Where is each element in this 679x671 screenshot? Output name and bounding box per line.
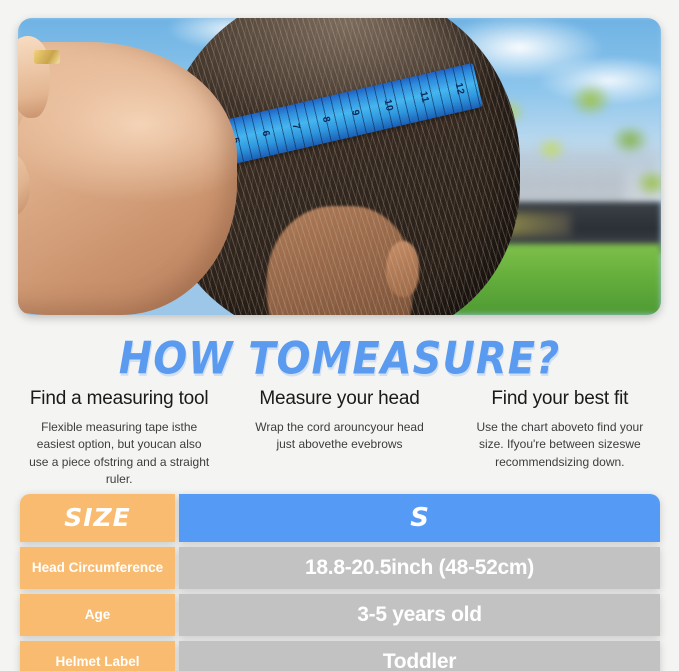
step-body: Use the chart aboveto find your size. If… bbox=[455, 419, 665, 471]
finger bbox=[18, 35, 53, 120]
step-find-your-best-fit: Find your best fit Use the chart aboveto… bbox=[455, 388, 665, 489]
table-row-value: S bbox=[179, 494, 660, 542]
tape-number: 9 bbox=[349, 108, 361, 116]
photo-scene: 93 94 3 4 5 6 7 8 9 10 11 12 bbox=[18, 18, 661, 315]
step-find-a-measuring-tool: Find a measuring tool Flexible measuring… bbox=[14, 388, 224, 489]
how-to-measure-photo: 93 94 3 4 5 6 7 8 9 10 11 12 bbox=[18, 18, 661, 315]
step-heading: Find your best fit bbox=[455, 388, 665, 410]
table-row: Head Circumference 18.8-20.5inch (48-52c… bbox=[20, 547, 660, 589]
table-row-label: Helmet Label bbox=[20, 641, 175, 671]
tape-number: 6 bbox=[259, 129, 271, 137]
steps-section: Find a measuring tool Flexible measuring… bbox=[14, 388, 665, 489]
step-measure-your-head: Measure your head Wrap the cord arouncyo… bbox=[234, 388, 444, 489]
tape-number: 10 bbox=[381, 98, 394, 112]
table-row: SIZE S bbox=[20, 494, 660, 542]
table-row: Helmet Label Toddler bbox=[20, 641, 660, 671]
step-heading: Measure your head bbox=[234, 388, 444, 410]
tape-number: 11 bbox=[417, 90, 430, 104]
table-row-label: Age bbox=[20, 594, 175, 636]
thumb bbox=[18, 140, 42, 232]
tape-number: 8 bbox=[319, 115, 331, 123]
child-face bbox=[267, 206, 411, 315]
table-row-value: Toddler bbox=[179, 641, 660, 671]
tape-number: 12 bbox=[452, 81, 465, 95]
table-row-label: SIZE bbox=[20, 494, 175, 542]
step-body: Wrap the cord arouncyour head just above… bbox=[234, 419, 444, 454]
child-ear bbox=[386, 241, 418, 297]
table-row-value: 18.8-20.5inch (48-52cm) bbox=[179, 547, 660, 589]
size-chart-table: SIZE S Head Circumference 18.8-20.5inch … bbox=[20, 494, 660, 671]
table-row-value: 3-5 years old bbox=[179, 594, 660, 636]
table-row: Age 3-5 years old bbox=[20, 594, 660, 636]
page-title: HOW TOMEASURE? bbox=[0, 333, 679, 385]
step-body: Flexible measuring tape isthe easiest op… bbox=[14, 419, 224, 489]
gold-ring bbox=[34, 50, 60, 64]
tape-number: 7 bbox=[289, 122, 301, 130]
step-heading: Find a measuring tool bbox=[14, 388, 224, 410]
table-row-label: Head Circumference bbox=[20, 547, 175, 589]
